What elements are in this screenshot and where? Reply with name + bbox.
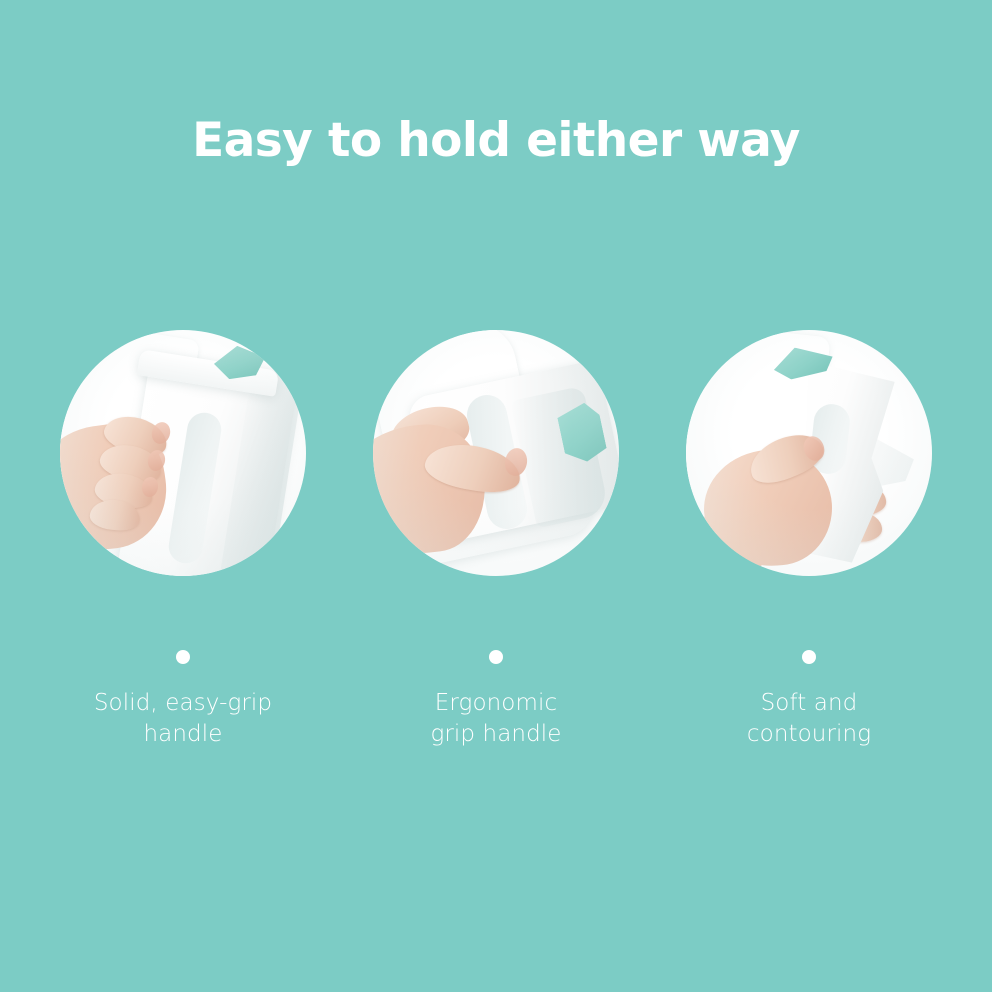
feature-caption: Soft and contouring bbox=[747, 688, 871, 750]
feature-caption: Ergonomic grip handle bbox=[430, 688, 561, 750]
feature-item-1: Solid, easy-grip handle bbox=[27, 330, 340, 750]
product-feature-panel: Easy to hold either way bbox=[0, 0, 992, 992]
product-photo-soft-and-contouring bbox=[686, 330, 932, 576]
feature-item-3: Soft and contouring bbox=[653, 330, 966, 750]
photo-1-scene bbox=[60, 330, 306, 576]
dot-bullet-icon bbox=[802, 650, 816, 664]
dot-bullet-icon bbox=[489, 650, 503, 664]
feature-item-2: Ergonomic grip handle bbox=[340, 330, 653, 750]
photo-3-scene bbox=[686, 330, 932, 576]
product-photo-ergonomic-grip-handle bbox=[373, 330, 619, 576]
page-title: Easy to hold either way bbox=[0, 113, 992, 169]
dot-bullet-icon bbox=[176, 650, 190, 664]
feature-row: Solid, easy-grip handle bbox=[0, 330, 992, 750]
photo-2-scene bbox=[373, 330, 619, 576]
feature-caption: Solid, easy-grip handle bbox=[94, 688, 272, 750]
product-photo-solid-easy-grip-handle bbox=[60, 330, 306, 576]
